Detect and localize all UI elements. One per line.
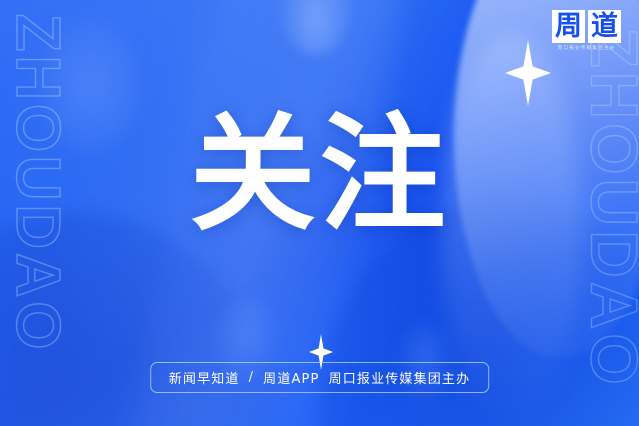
footer-slogan: 新闻早知道 bbox=[169, 368, 240, 387]
news-poster: ZHOUDAO ZHOUDAO 周 道 周口报业传媒集团主办 关注 新闻早知道 … bbox=[0, 0, 639, 426]
sparkle-icon-large bbox=[505, 40, 551, 106]
footer-separator: / bbox=[249, 370, 255, 385]
footer-publisher: 周口报业传媒集团主办 bbox=[329, 368, 471, 387]
brand-logo-char-zhou: 周 bbox=[552, 10, 585, 43]
page-title: 关注 bbox=[0, 112, 639, 238]
brand-logo: 周 道 周口报业传媒集团主办 bbox=[552, 10, 621, 52]
brand-logo-char-dao: 道 bbox=[588, 10, 621, 43]
light-blob-top bbox=[281, 0, 351, 55]
footer-app-name: 周道APP bbox=[263, 368, 319, 387]
footer-banner: 新闻早知道 / 周道APP 周口报业传媒集团主办 bbox=[150, 362, 490, 393]
brand-logo-characters: 周 道 bbox=[552, 10, 621, 43]
brand-logo-tagline: 周口报业传媒集团主办 bbox=[558, 46, 616, 51]
